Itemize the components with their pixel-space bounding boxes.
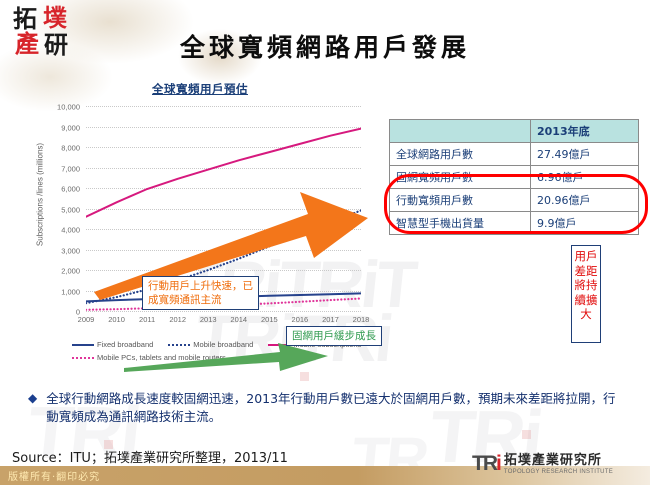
chart-y-tick: 4,000 xyxy=(61,226,80,235)
page-title: 全球寬頻網路用戶發展 xyxy=(0,28,650,64)
table-row: 智慧型手機出貨量9.9億戶 xyxy=(390,212,639,235)
chart-x-tick: 2010 xyxy=(108,315,125,324)
stats-table: 2013年底全球網路用戶數27.49億戶固網寬頻用戶數6.96億戶行動寬頻用戶數… xyxy=(389,119,639,235)
chart-y-tick: 10,000 xyxy=(57,103,80,112)
table-cell-value: 27.49億戶 xyxy=(531,143,639,166)
chart-y-tick: 6,000 xyxy=(61,185,80,194)
table-cell-value: 6.96億戶 xyxy=(531,166,639,189)
chart-container: 全球寬頻用戶預估 Subscriptions /lines (millions)… xyxy=(24,78,384,378)
copyright-text: 版權所有‧翻印必究 xyxy=(8,468,100,483)
chart-x-tick: 2012 xyxy=(169,315,186,324)
chart-y-tick: 1,000 xyxy=(61,287,80,296)
table-cell-label: 全球網路用戶數 xyxy=(390,143,531,166)
chart-x-tick: 2009 xyxy=(78,315,95,324)
source-line: Source：ITU；拓墣產業研究所整理，2013/11 xyxy=(12,447,288,466)
bullet-marker: ◆ xyxy=(28,390,37,425)
chart-title: 全球寬頻用戶預估 xyxy=(152,81,248,97)
chart-x-tick: 2014 xyxy=(230,315,247,324)
table-header-blank xyxy=(390,120,531,143)
table-cell-value: 20.96億戶 xyxy=(531,189,639,212)
chart-x-tick: 2011 xyxy=(139,315,155,324)
chart-x-tick: 2015 xyxy=(261,315,278,324)
footer-logo-cn: 拓墣產業研究所 xyxy=(504,454,613,467)
chart-y-axis-label: Subscriptions /lines (millions) xyxy=(36,135,45,255)
footer-logo: TRi 拓墣產業研究所 TOPOLOGY RESEARCH INSTITUTE xyxy=(472,452,613,476)
legend-swatch xyxy=(72,357,94,359)
gap-side-note: 用戶差距將持續擴大 xyxy=(571,245,601,343)
chart-x-tick: 2016 xyxy=(292,315,309,324)
table-row: 行動寬頻用戶數20.96億戶 xyxy=(390,189,639,212)
chart-y-tick: 2,000 xyxy=(61,267,80,276)
bullet-text: 全球行動網路成長速度較固網迅速，2013年行動用戶數已遠大於固網用戶數，預期未來… xyxy=(46,390,628,425)
chart-y-tick: 7,000 xyxy=(61,164,80,173)
table-row: 固網寬頻用戶數6.96億戶 xyxy=(390,166,639,189)
chart-y-tick: 8,000 xyxy=(61,144,80,153)
mobile-growth-callout: 行動用戶上升快速，已 成寬頻通訊主流 xyxy=(142,276,259,310)
chart-x-tick: 2018 xyxy=(353,315,370,324)
footer-logo-mark: TRi xyxy=(472,452,500,476)
table-header-row: 2013年底 xyxy=(390,120,639,143)
gap-side-note-text: 用戶差距將持續擴大 xyxy=(575,249,598,321)
table-header-period: 2013年底 xyxy=(531,120,639,143)
table-cell-label: 固網寬頻用戶數 xyxy=(390,166,531,189)
footer-logo-en: TOPOLOGY RESEARCH INSTITUTE xyxy=(504,469,613,475)
table-cell-label: 智慧型手機出貨量 xyxy=(390,212,531,235)
table-row: 全球網路用戶數27.49億戶 xyxy=(390,143,639,166)
chart-y-tick: 5,000 xyxy=(61,205,80,214)
chart-y-tick: 3,000 xyxy=(61,246,80,255)
table-cell-label: 行動寬頻用戶數 xyxy=(390,189,531,212)
legend-swatch xyxy=(72,344,94,346)
chart-x-tick: 2017 xyxy=(322,315,339,324)
table-cell-value: 9.9億戶 xyxy=(531,212,639,235)
fixed-growth-callout: 固網用戶緩步成長 xyxy=(286,326,382,346)
chart-x-tick: 2013 xyxy=(200,315,217,324)
green-trend-arrow xyxy=(122,342,332,372)
watermark-dot xyxy=(522,430,531,439)
chart-y-tick: 9,000 xyxy=(61,123,80,132)
summary-bullet: ◆ 全球行動網路成長速度較固網迅速，2013年行動用戶數已遠大於固網用戶數，預期… xyxy=(28,390,628,425)
